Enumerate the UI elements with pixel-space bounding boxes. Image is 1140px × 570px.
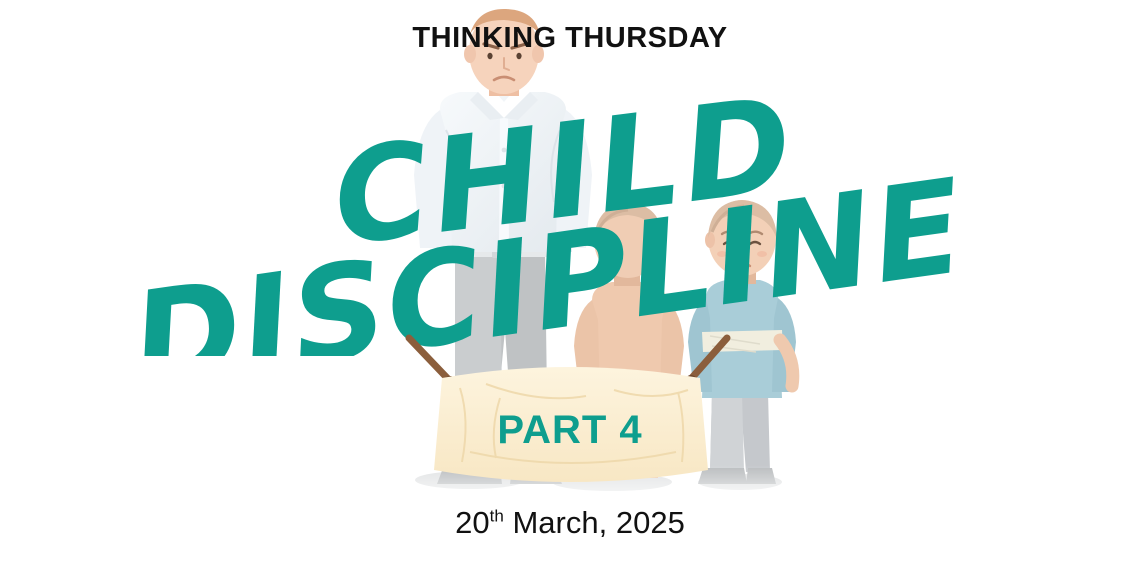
poster-canvas: THINKING THURSDAY CHILD DISCIPLINE PART … <box>0 0 1140 570</box>
banner-group <box>0 0 1140 570</box>
date-day-suffix: th <box>490 507 504 526</box>
date-day: 20 <box>455 505 489 540</box>
event-date: 20th March, 2025 <box>0 505 1140 541</box>
date-month-year: March, 2025 <box>504 505 685 540</box>
part-label: PART 4 <box>430 408 710 453</box>
